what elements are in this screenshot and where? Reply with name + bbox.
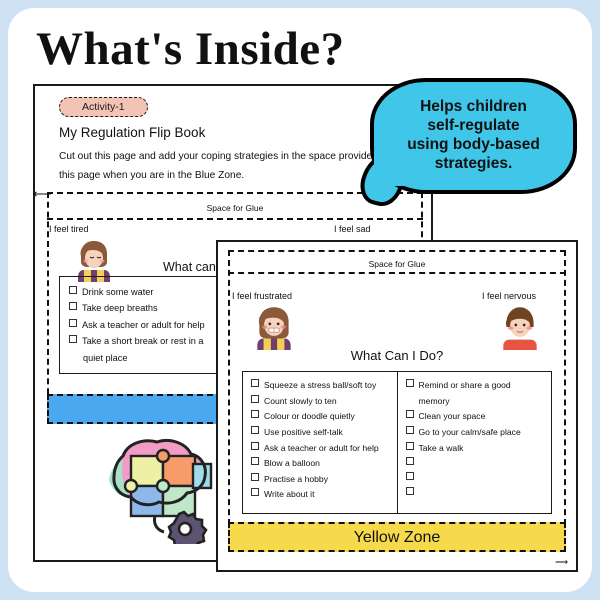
callout-text: Helps children self-regulate using body-…	[397, 98, 550, 174]
checklist-item[interactable]: Colour or doodle quietly	[251, 409, 397, 425]
checklist-item[interactable]: Write about it	[251, 487, 397, 503]
avatar-frustrated-girl	[250, 302, 298, 350]
callout-line: using body-based	[407, 136, 540, 155]
checklist-label: Go to your calm/safe place	[419, 427, 521, 437]
checkbox-icon[interactable]	[69, 286, 77, 294]
checklist-label: Write about it	[264, 489, 314, 499]
checkbox-icon[interactable]	[251, 457, 259, 465]
yellow-zone-banner: Yellow Zone	[228, 522, 566, 552]
sheet1-heading: My Regulation Flip Book	[59, 125, 205, 140]
sheet2-checklist-left-column: Squeeze a stress ball/soft toy Count slo…	[243, 372, 397, 513]
checkbox-icon[interactable]	[406, 442, 414, 450]
checklist-item[interactable]: Clean your space	[406, 409, 552, 425]
checkbox-icon[interactable]	[69, 319, 77, 327]
checkbox-icon[interactable]	[251, 410, 259, 418]
checklist-item-blank[interactable]	[406, 471, 552, 486]
checklist-item[interactable]: Go to your calm/safe place	[406, 425, 552, 441]
checklist-label: Take a walk	[419, 443, 464, 453]
checklist-label: Take deep breaths	[82, 303, 158, 313]
page-title: What's Inside?	[36, 22, 345, 76]
checklist-item-blank[interactable]	[406, 456, 552, 471]
checklist-label: Clean your space	[419, 411, 486, 421]
checkbox-icon[interactable]	[251, 442, 259, 450]
checkbox-icon[interactable]	[251, 488, 259, 496]
checklist-item[interactable]: Count slowly to ten	[251, 394, 397, 410]
callout-tail-blend	[374, 150, 404, 186]
callout-line: strategies.	[407, 155, 540, 174]
checklist-label: Squeeze a stress ball/soft toy	[264, 380, 376, 390]
checklist-label: Drink some water	[82, 287, 153, 297]
sheet1-prompt: What can I	[163, 260, 223, 274]
checkbox-icon[interactable]	[69, 335, 77, 343]
checklist-item[interactable]: Remind or share a good	[406, 378, 552, 394]
checkbox-icon[interactable]	[251, 473, 259, 481]
checklist-item[interactable]: Practise a hobby	[251, 472, 397, 488]
checklist-label: Ask a teacher or adult for help	[82, 320, 205, 330]
callout-line: self-regulate	[407, 117, 540, 136]
activity-badge: Activity-1	[59, 97, 148, 117]
sheet2-feeling-left: I feel frustrated	[232, 291, 292, 301]
checkbox-icon[interactable]	[251, 395, 259, 403]
checkbox-icon[interactable]	[69, 302, 77, 310]
checklist-item-blank[interactable]	[406, 486, 552, 501]
sheet1-feeling-right: I feel sad	[334, 224, 371, 234]
sheet1-feeling-left: I feel tired	[49, 224, 89, 234]
checklist-label: Use positive self-talk	[264, 427, 343, 437]
checklist-item[interactable]: Squeeze a stress ball/soft toy	[251, 378, 397, 394]
poster-canvas: What's Inside? Activity-1 My Regulation …	[0, 0, 600, 600]
checklist-label: Count slowly to ten	[264, 396, 337, 406]
checklist-item[interactable]: Blow a balloon	[251, 456, 397, 472]
activity-sheet-2: Space for Glue I feel frustrated I feel …	[216, 240, 578, 572]
sheet2-feeling-right: I feel nervous	[482, 291, 536, 301]
cut-arrow-icon: ⟶	[555, 557, 568, 568]
checklist-label: Blow a balloon	[264, 458, 320, 468]
checkbox-icon[interactable]	[406, 487, 414, 495]
checklist-item[interactable]: Ask a teacher or adult for help	[251, 441, 397, 457]
callout-line: Helps children	[407, 98, 540, 117]
checklist-label: Take a short break or rest in a	[82, 336, 204, 346]
checklist-label: Practise a hobby	[264, 474, 328, 484]
checklist-item-continuation: memory	[406, 394, 552, 410]
sheet2-checklist: Squeeze a stress ball/soft toy Count slo…	[242, 371, 552, 514]
checkbox-icon[interactable]	[251, 426, 259, 434]
checkbox-icon[interactable]	[406, 410, 414, 418]
sheet2-checklist-right-column: Remind or share a good memory Clean your…	[397, 372, 552, 513]
checklist-item[interactable]: Use positive self-talk	[251, 425, 397, 441]
checkbox-icon[interactable]	[251, 379, 259, 387]
checkbox-icon[interactable]	[406, 426, 414, 434]
checkbox-icon[interactable]	[406, 379, 414, 387]
checklist-label: Remind or share a good	[419, 380, 511, 390]
checkbox-icon[interactable]	[406, 457, 414, 465]
sheet2-glue-band: Space for Glue	[228, 250, 566, 274]
checklist-label: Ask a teacher or adult for help	[264, 443, 379, 453]
checkbox-icon[interactable]	[406, 472, 414, 480]
brain-puzzle-icon	[93, 434, 235, 544]
avatar-nervous-boy	[496, 302, 544, 350]
checklist-item[interactable]: Take a walk	[406, 441, 552, 457]
checklist-label: Colour or doodle quietly	[264, 411, 355, 421]
sheet2-prompt: What Can I Do?	[218, 348, 576, 363]
